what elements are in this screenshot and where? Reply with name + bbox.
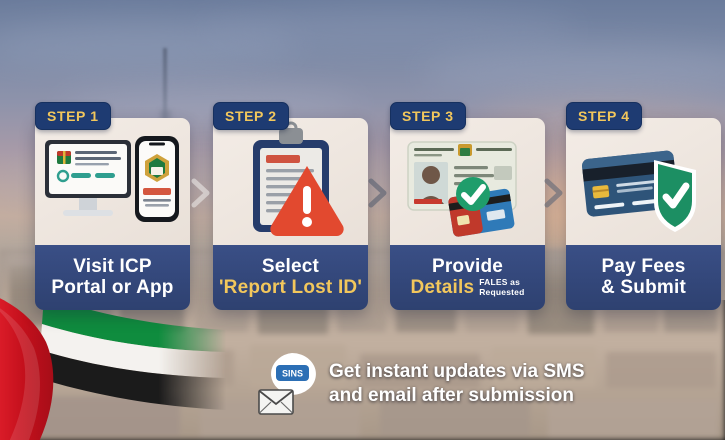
infographic-canvas: STEP 1 — [0, 0, 725, 440]
step-2-line2: 'Report Lost ID' — [219, 277, 362, 299]
chevron-right-icon — [367, 178, 389, 208]
step-1-illustration — [35, 118, 190, 245]
banner-line1: Get instant updates via SMS — [329, 360, 585, 384]
step-2-label: Select 'Report Lost ID' — [213, 245, 368, 310]
step-1-line2: Portal or App — [51, 277, 173, 299]
step-4-line2: & Submit — [601, 277, 686, 299]
step-card-2[interactable]: Select 'Report Lost ID' — [213, 118, 368, 310]
chevron-right-icon — [190, 178, 212, 208]
step-3-note-line1: FALES as — [479, 277, 520, 287]
uae-flag — [0, 292, 226, 440]
id-card-check-icon — [390, 118, 545, 245]
step-2-line1: Select — [262, 256, 319, 277]
step-card-3[interactable]: Provide Details FALES as Requested — [390, 118, 545, 310]
clipboard-warning-icon — [213, 118, 368, 245]
notification-banner: SINS Get instant updates via SMS and ema… — [258, 348, 588, 420]
step-3-note-line2: Requested — [479, 287, 524, 297]
step-3-note: FALES as Requested — [479, 278, 524, 299]
step-3-badge: STEP 3 — [390, 102, 466, 130]
step-1-label: Visit ICP Portal or App — [35, 245, 190, 310]
step-3-illustration — [390, 118, 545, 245]
step-3-label: Provide Details FALES as Requested — [390, 245, 545, 310]
step-4-label: Pay Fees & Submit — [566, 245, 721, 310]
chevron-right-icon — [543, 178, 565, 208]
banner-icons: SINS — [258, 351, 320, 417]
step-4-line1: Pay Fees — [602, 256, 686, 277]
envelope-icon — [258, 389, 294, 415]
step-3-line1: Provide — [432, 256, 503, 277]
step-1-line1: Visit ICP — [73, 256, 152, 277]
step-4-illustration — [566, 118, 721, 245]
step-1-badge: STEP 1 — [35, 102, 111, 130]
bubble-label: SINS — [282, 369, 303, 379]
banner-text: Get instant updates via SMS and email af… — [329, 360, 585, 408]
step-2-badge: STEP 2 — [213, 102, 289, 130]
step-card-4[interactable]: Pay Fees & Submit — [566, 118, 721, 310]
credit-card-shield-icon — [566, 118, 721, 245]
step-card-1[interactable]: Visit ICP Portal or App — [35, 118, 190, 310]
desktop-and-phone-icon — [35, 118, 190, 245]
banner-line2: and email after submission — [329, 384, 585, 408]
step-4-badge: STEP 4 — [566, 102, 642, 130]
step-2-illustration — [213, 118, 368, 245]
step-3-line2: Details — [411, 277, 475, 299]
